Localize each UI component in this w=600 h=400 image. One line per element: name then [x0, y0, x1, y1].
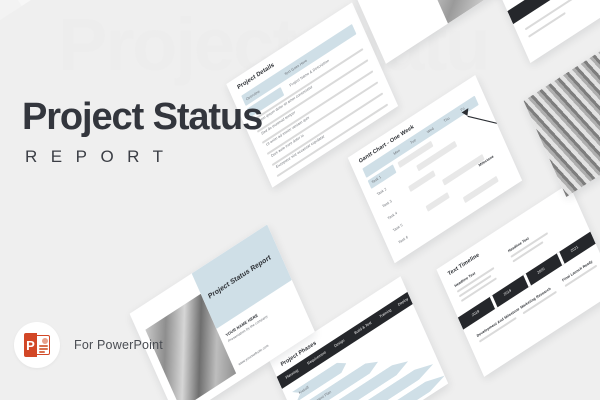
hero-text-block: Project Status REPORT	[22, 98, 262, 167]
powerpoint-badge[interactable]: P For PowerPoint	[14, 322, 163, 368]
powerpoint-icon: P	[14, 322, 60, 368]
powerpoint-label: For PowerPoint	[74, 338, 163, 352]
intro-photo-image	[402, 0, 512, 24]
page-title: Project Status	[22, 98, 262, 136]
powerpoint-doc-icon	[36, 335, 50, 355]
cover-website: www.yourwebsite.com	[238, 343, 269, 366]
page-subtitle: REPORT	[25, 147, 262, 167]
poster-canvas: Project Statu Project Details Overview T…	[0, 0, 600, 400]
powerpoint-mark: P	[24, 333, 50, 357]
powerpoint-pie-icon	[42, 338, 48, 344]
gantt-row-label: Task 6	[398, 235, 409, 245]
blinds-photo-image	[523, 37, 600, 197]
gantt-row-label: Task 3	[382, 199, 393, 209]
slide-blinds-photo[interactable]	[523, 37, 600, 197]
gantt-row-label: Task 5	[392, 223, 403, 233]
slide-stat-overview[interactable]: Project Overview	[488, 0, 600, 63]
gantt-row-label: Task 2	[376, 187, 387, 197]
milestone-leader-line	[468, 116, 523, 131]
gantt-bar	[426, 192, 450, 212]
gantt-bar	[442, 154, 485, 186]
gantt-row-label: Task 4	[387, 211, 398, 221]
gantt-bar	[408, 170, 436, 192]
gantt-bar	[463, 176, 499, 203]
